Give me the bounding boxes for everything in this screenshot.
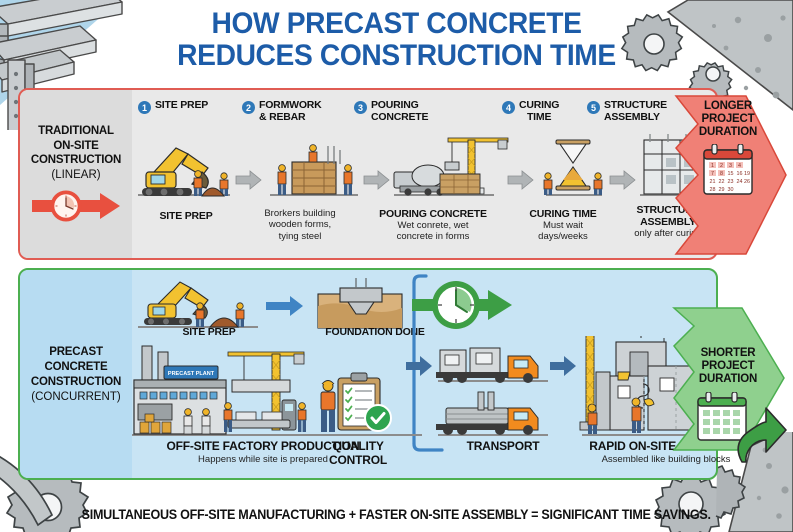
svg-text:19: 19 — [744, 171, 750, 177]
step-title: STRUCTURE ASSEMBLY — [604, 100, 667, 124]
caption-sub: Wet conrete, wetconcrete in forms — [360, 220, 506, 243]
step-title-line-2: CONCRETE — [371, 111, 428, 123]
precast-label-sub: (CONCURRENT) — [31, 391, 120, 403]
step-title-line-2: & REBAR — [259, 111, 305, 123]
step-number-badge: 1 — [138, 101, 151, 114]
svg-text:22: 22 — [719, 179, 725, 185]
traditional-label-sub: (LINEAR) — [51, 169, 100, 181]
traditional-caption-4: CURING TIME Must waitdays/weeks — [514, 208, 612, 243]
foundation-icon — [318, 278, 402, 328]
traditional-label-line-2: ON-SITE — [53, 139, 98, 154]
step-title-line-1: POURING — [371, 99, 419, 111]
svg-text:16: 16 — [737, 171, 743, 177]
svg-text:29: 29 — [719, 187, 725, 193]
green-clock-arrow-icon — [412, 276, 522, 334]
svg-text:30: 30 — [728, 187, 734, 193]
svg-text:15: 15 — [728, 171, 734, 177]
step-number-badge: 4 — [502, 101, 515, 114]
step-title: FORMWORK & REBAR — [259, 100, 322, 124]
precast-construction-panel: PRECAST CONCRETE CONSTRUCTION (CONCURREN… — [18, 268, 718, 480]
caption-title: SITE PREP — [132, 210, 240, 222]
title-line-2: REDUCES CONSTRUCTION TIME — [24, 40, 769, 72]
infographic-canvas: HOW PRECAST CONCRETE REDUCES CONSTRUCTIO… — [0, 0, 793, 532]
worker-icon — [194, 171, 202, 196]
longer-line-2: PROJECT — [678, 113, 778, 126]
worker-icon — [594, 173, 602, 195]
step-title-line-1: FORMWORK — [259, 99, 322, 111]
step-number-badge: 2 — [242, 101, 255, 114]
traditional-steps-artwork — [132, 132, 718, 206]
traditional-steps-area: 1 SITE PREP 2 FORMWORK & REBAR 3 POURING… — [132, 90, 716, 258]
longer-duration-text: LONGER PROJECT DURATION — [678, 100, 778, 140]
gray-arrow-icon — [508, 171, 533, 189]
excavator-icon — [138, 148, 230, 196]
traditional-step-2-head: 2 FORMWORK & REBAR — [242, 100, 322, 124]
caption-sub: Must waitdays/weeks — [514, 220, 612, 243]
gray-arrow-icon — [364, 171, 389, 189]
worker-icon — [344, 165, 352, 195]
traditional-label-line-1: TRADITIONAL — [38, 124, 114, 139]
worker-icon — [236, 303, 244, 327]
caption-title: SITE PREP — [154, 326, 264, 338]
blue-arrow-icon — [406, 356, 432, 376]
gray-arrow-icon — [236, 171, 261, 189]
footer-summary: SIMULTANEOUS OFF-SITE MANUFACTURING + FA… — [0, 507, 793, 522]
shorter-line-2: PROJECT — [678, 360, 778, 373]
svg-text:26: 26 — [744, 179, 750, 185]
precast-label-line-3: CONSTRUCTION — [31, 375, 121, 390]
traditional-caption-1: SITE PREP — [132, 210, 240, 222]
traditional-construction-panel: TRADITIONAL ON-SITE CONSTRUCTION (LINEAR… — [18, 88, 718, 260]
traditional-step-4-head: 4 CURING TIME — [502, 100, 559, 124]
svg-text:8: 8 — [720, 171, 723, 177]
svg-text:1: 1 — [711, 163, 714, 169]
page-title: HOW PRECAST CONCRETE REDUCES CONSTRUCTIO… — [0, 8, 793, 71]
precast-label-line-1: PRECAST — [49, 345, 103, 360]
transport-and-assembly-artwork — [404, 336, 718, 442]
offsite-factory-artwork: PRECAST PLANT — [132, 338, 422, 442]
precast-label-column: PRECAST CONCRETE CONSTRUCTION (CONCURREN… — [20, 270, 132, 478]
worker-icon — [544, 173, 552, 195]
precast-tracks-area: SITE PREP FOUNDATION DONE — [132, 270, 716, 478]
beam-truck-icon — [436, 392, 548, 436]
precast-plant-sign: PRECAST PLANT — [168, 371, 215, 377]
formwork-rebar-icon — [270, 145, 358, 196]
svg-text:21: 21 — [710, 179, 716, 185]
precast-caption-transport: TRANSPORT — [448, 440, 558, 454]
svg-text:28: 28 — [710, 187, 716, 193]
worker-icon — [309, 145, 317, 162]
svg-text:23: 23 — [728, 179, 734, 185]
quality-control-icon — [321, 373, 391, 432]
blue-arrow-icon — [550, 356, 576, 376]
svg-text:2: 2 — [720, 163, 723, 169]
footer-text: SIMULTANEOUS OFF-SITE MANUFACTURING + FA… — [82, 507, 711, 522]
red-calendar-icon: 1234 78151619 2122232426 282930 — [700, 144, 756, 198]
traditional-step-5-head: 5 STRUCTURE ASSEMBLY — [587, 100, 667, 124]
longer-line-1: LONGER — [678, 100, 778, 113]
svg-text:4: 4 — [738, 163, 741, 169]
precast-caption-site-prep: SITE PREP — [154, 326, 264, 338]
longer-line-3: DURATION — [678, 126, 778, 139]
svg-text:3: 3 — [729, 163, 732, 169]
traditional-caption-2: Brorkers buildingwooden forms,tying stee… — [244, 208, 356, 242]
traditional-label-column: TRADITIONAL ON-SITE CONSTRUCTION (LINEAR… — [20, 90, 132, 258]
worker-icon — [298, 403, 306, 432]
worker-icon — [202, 409, 210, 434]
caption-title: QUALITY CONTROL — [310, 440, 406, 468]
svg-text:7: 7 — [711, 171, 714, 177]
step-title-line-1: CURING — [519, 99, 559, 111]
worker-icon — [196, 303, 204, 327]
precast-caption-quality-control: QUALITY CONTROL — [310, 440, 406, 468]
blue-arrow-icon — [266, 296, 303, 316]
caption-sub: Brorkers buildingwooden forms,tying stee… — [244, 208, 356, 242]
tower-crane-icon — [440, 138, 508, 194]
step-title: CURING TIME — [519, 100, 559, 124]
worker-icon — [278, 165, 286, 195]
panel-truck-icon — [436, 348, 548, 383]
worker-icon — [184, 409, 192, 434]
step-title: POURING CONCRETE — [371, 100, 428, 124]
caption-title: TRANSPORT — [448, 440, 558, 454]
step-title-line-2: ASSEMBLY — [604, 111, 660, 123]
shorter-line-1: SHORTER — [678, 347, 778, 360]
svg-text:24: 24 — [737, 179, 743, 185]
red-clock-arrow-icon — [30, 188, 122, 224]
title-line-1: HOW PRECAST CONCRETE — [24, 8, 769, 40]
traditional-caption-3: POURING CONCRETE Wet conrete, wetconcret… — [360, 208, 506, 243]
traditional-step-3-head: 3 POURING CONCRETE — [354, 100, 428, 124]
traditional-label-line-3: CONSTRUCTION — [31, 153, 121, 168]
step-title: SITE PREP — [155, 100, 208, 112]
precast-label-line-2: CONCRETE — [45, 360, 108, 375]
factory-icon: PRECAST PLANT — [134, 346, 226, 434]
excavator-icon — [138, 282, 258, 328]
step-number-badge: 3 — [354, 101, 367, 114]
step-title-line-1: STRUCTURE — [604, 99, 667, 111]
step-number-badge: 5 — [587, 101, 600, 114]
shorter-duration-text: SHORTER PROJECT DURATION — [678, 347, 778, 387]
caption-title: CURING TIME — [514, 208, 612, 220]
traditional-step-1-head: 1 SITE PREP — [138, 100, 208, 114]
gray-arrow-icon — [610, 171, 635, 189]
worker-icon — [321, 381, 335, 433]
caption-title: POURING CONCRETE — [360, 208, 506, 220]
green-up-arrow-icon — [726, 382, 790, 466]
hourglass-icon — [544, 140, 602, 196]
step-title-line-2: TIME — [527, 111, 551, 123]
